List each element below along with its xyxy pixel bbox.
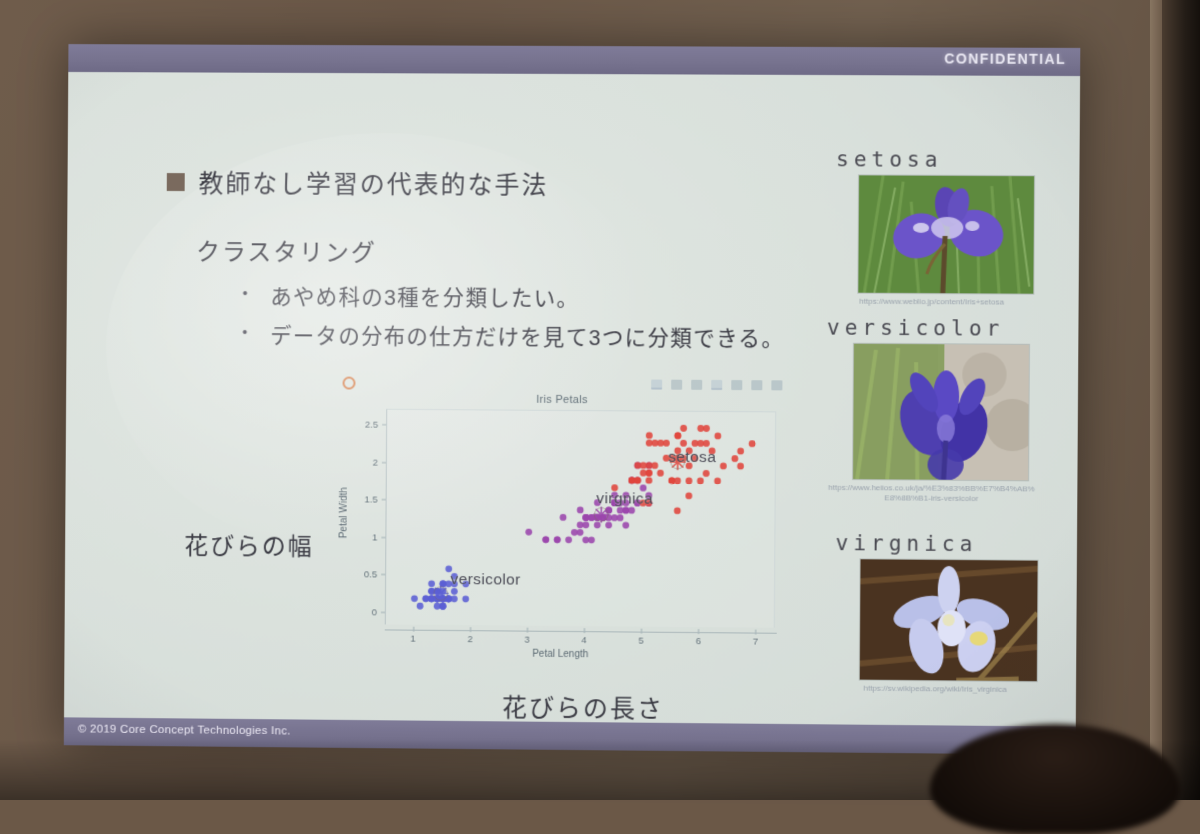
y-tick-label: 0 — [372, 607, 377, 618]
species-panel-virginica: virgnica — [835, 531, 1037, 695]
y-tick-label: 1 — [372, 532, 377, 543]
plot-axes-area — [385, 409, 776, 628]
y-tick-mark — [382, 425, 386, 426]
forward-arrow-icon[interactable] — [691, 380, 702, 390]
axis-tick-layer: 00.511.522.51234567 — [339, 376, 787, 379]
iris-versicolor-photo — [852, 343, 1030, 482]
x-tick-label: 4 — [581, 635, 586, 646]
x-axis-line — [385, 629, 777, 633]
y-tick-mark — [381, 612, 385, 613]
x-tick-label: 6 — [696, 636, 701, 647]
iris-scatter-plot: Iris Petals Petal Width 00.511.522.51234… — [337, 376, 787, 679]
x-tick-label: 7 — [753, 637, 758, 648]
species-source-url: https://www.helios.co.uk/ja/%E3%83%BB%E7… — [826, 483, 1037, 505]
annotation-petal-length: 花びらの長さ — [502, 688, 664, 725]
cluster-label-layer: versicolorvirgnicasetosa — [339, 376, 787, 379]
x-tick-label: 5 — [638, 636, 643, 647]
bullet-dot-icon: ・ — [235, 321, 254, 350]
confidential-badge: CONFIDENTIAL — [944, 50, 1066, 67]
species-name-label: virgnica — [835, 531, 1036, 557]
y-tick-mark — [382, 462, 386, 463]
y-tick-label: 1.5 — [364, 494, 377, 505]
chart-title: Iris Petals — [338, 392, 786, 407]
iris-setosa-photo — [857, 174, 1035, 294]
bullet-dot-icon: ・ — [236, 282, 255, 311]
y-tick-mark — [382, 499, 386, 500]
scatter-canvas — [386, 410, 775, 628]
plot-app-icon — [343, 377, 356, 390]
projected-slide: CONFIDENTIAL 教師なし学習の代表的な手法 クラスタリング ・ あやめ… — [64, 44, 1080, 755]
slide-content-area: 教師なし学習の代表的な手法 クラスタリング ・ あやめ科の3種を分類したい。 ・… — [64, 72, 1080, 727]
species-source-url: https://sv.wikipedia.org/wiki/Iris_virgi… — [835, 683, 1036, 695]
dark-wall-right — [1162, 0, 1200, 800]
y-tick-mark — [381, 537, 385, 538]
cluster-label: versicolor — [450, 571, 520, 590]
y-tick-label: 2.5 — [365, 420, 378, 431]
zoom-rect-icon[interactable] — [731, 380, 742, 390]
bullet-list: ・ あやめ科の3種を分類したい。 ・ データの分布の仕方だけを見て3つに分類でき… — [235, 282, 784, 364]
species-source-url: https://www.weblio.jp/content/Iris+setos… — [835, 297, 1028, 308]
x-tick-label: 2 — [467, 634, 472, 645]
species-name-label: setosa — [836, 147, 1029, 172]
iris-virginica-photo — [859, 558, 1039, 682]
heading-label: 教師なし学習の代表的な手法 — [198, 164, 548, 202]
slide-heading: 教師なし学習の代表的な手法 — [167, 164, 549, 202]
y-tick-mark — [381, 574, 385, 575]
subheading-label: クラスタリング — [196, 232, 377, 268]
footer-copyright: © 2019 Core Concept Technologies Inc. — [78, 723, 291, 737]
y-tick-label: 2 — [373, 457, 378, 468]
cluster-label: setosa — [668, 449, 716, 467]
list-item: ・ データの分布の仕方だけを見て3つに分類できる。 — [235, 321, 784, 356]
x-axis-title: Petal Length — [337, 647, 785, 662]
y-axis-title: Petal Width — [338, 487, 349, 538]
annotation-petal-width: 花びらの幅 — [184, 526, 314, 562]
y-tick-label: 0.5 — [364, 569, 377, 580]
slide-header-bar: CONFIDENTIAL — [68, 44, 1080, 76]
home-icon[interactable] — [651, 380, 662, 390]
heading-square-icon — [167, 173, 185, 191]
plot-toolbar[interactable] — [651, 380, 782, 391]
species-panel-setosa: setosa — [835, 147, 1029, 307]
species-name-label: versicolor — [827, 316, 1038, 341]
x-tick-label: 1 — [410, 634, 415, 645]
list-item: ・ あやめ科の3種を分類したい。 — [236, 282, 785, 316]
cluster-label: virgnica — [596, 490, 653, 508]
bullet-text: データの分布の仕方だけを見て3つに分類できる。 — [270, 321, 784, 355]
x-tick-label: 3 — [524, 635, 529, 646]
bullet-text: あやめ科の3種を分類したい。 — [270, 282, 579, 315]
back-arrow-icon[interactable] — [671, 380, 682, 390]
species-panel-versicolor: versicolor — [826, 316, 1038, 505]
save-figure-icon[interactable] — [771, 380, 782, 390]
configure-subplots-icon[interactable] — [751, 380, 762, 390]
pan-icon[interactable] — [711, 380, 722, 390]
